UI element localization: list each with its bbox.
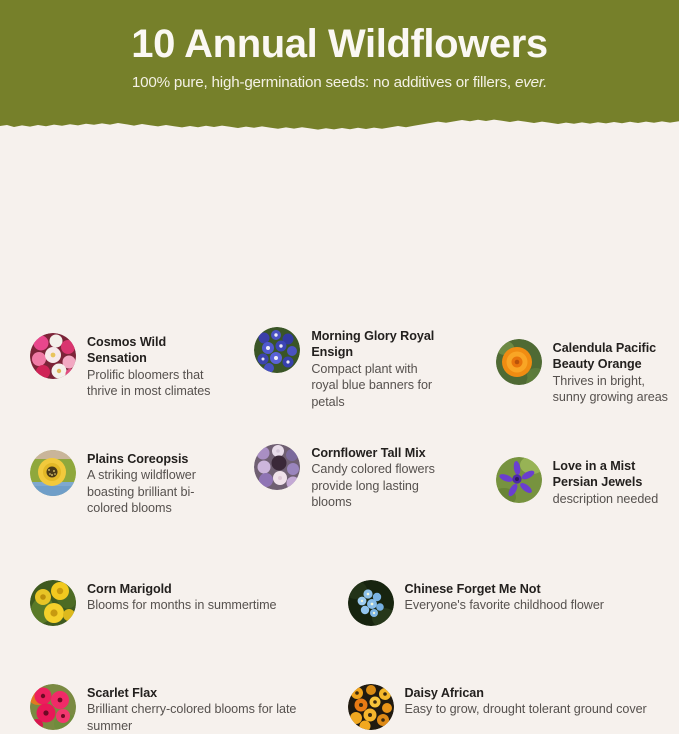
- flower-description: Brilliant cherry-colored blooms for late…: [87, 701, 334, 734]
- list-item[interactable]: Cornflower Tall Mix Candy colored flower…: [226, 444, 452, 517]
- subtitle-emphasis-text: ever.: [515, 74, 547, 91]
- flower-name: Corn Marigold: [87, 581, 277, 597]
- item-text-block: Cornflower Tall Mix Candy colored flower…: [311, 444, 446, 511]
- item-text-block: Cosmos Wild Sensation Prolific bloomers …: [87, 333, 220, 400]
- list-item[interactable]: Cosmos Wild Sensation Prolific bloomers …: [0, 333, 226, 410]
- item-text-block: Scarlet Flax Brilliant cherry-colored bl…: [87, 684, 334, 734]
- item-text-block: Calendula Pacific Beauty Orange Thrives …: [553, 339, 673, 406]
- cosmos-wild-sensation-thumbnail: [30, 333, 76, 379]
- flower-name: Scarlet Flax: [87, 685, 334, 701]
- subtitle-lead-text: 100% pure, high-germination seeds: no ad…: [132, 74, 511, 91]
- page-subtitle: 100% pure, high-germination seeds: no ad…: [0, 74, 679, 91]
- item-text-block: Morning Glory Royal Ensign Compact plant…: [311, 327, 446, 410]
- flower-name: Cosmos Wild Sensation: [87, 334, 220, 367]
- list-item[interactable]: Chinese Forget Me Not Everyone's favorit…: [340, 580, 679, 626]
- flower-name: Chinese Forget Me Not: [405, 581, 604, 597]
- item-text-block: Love in a Mist Persian Jewels descriptio…: [553, 457, 673, 507]
- list-item[interactable]: Scarlet Flax Brilliant cherry-colored bl…: [0, 684, 340, 734]
- flower-name: Daisy African: [405, 685, 647, 701]
- flower-description: Candy colored flowers provide long lasti…: [311, 461, 446, 510]
- calendula-pacific-beauty-orange-thumbnail: [496, 339, 542, 385]
- flower-description: Blooms for months in summertime: [87, 597, 277, 613]
- plains-coreopsis-thumbnail: [30, 450, 76, 496]
- flower-row: Plains Coreopsis A striking wildflower b…: [0, 450, 679, 517]
- flower-name: Plains Coreopsis: [87, 451, 220, 467]
- flower-description: Everyone's favorite childhood flower: [405, 597, 604, 613]
- list-item[interactable]: Calendula Pacific Beauty Orange Thrives …: [453, 339, 679, 410]
- flower-name: Morning Glory Royal Ensign: [311, 328, 446, 361]
- flower-name: Cornflower Tall Mix: [311, 445, 446, 461]
- item-text-block: Plains Coreopsis A striking wildflower b…: [87, 450, 220, 517]
- flower-row: Cosmos Wild Sensation Prolific bloomers …: [0, 333, 679, 410]
- list-item[interactable]: Daisy African Easy to grow, drought tole…: [340, 684, 679, 734]
- item-text-block: Chinese Forget Me Not Everyone's favorit…: [405, 580, 604, 614]
- item-text-block: Corn Marigold Blooms for months in summe…: [87, 580, 277, 614]
- item-text-block: Daisy African Easy to grow, drought tole…: [405, 684, 647, 718]
- flower-name: Calendula Pacific Beauty Orange: [553, 340, 673, 373]
- page-header: 10 Annual Wildflowers 100% pure, high-ge…: [0, 0, 679, 136]
- flower-name: Love in a Mist Persian Jewels: [553, 458, 673, 491]
- flower-row: Scarlet Flax Brilliant cherry-colored bl…: [0, 684, 679, 734]
- list-item[interactable]: Plains Coreopsis A striking wildflower b…: [0, 450, 226, 517]
- chinese-forget-me-not-thumbnail: [348, 580, 394, 626]
- love-in-a-mist-persian-jewels-thumbnail: [496, 457, 542, 503]
- header-text-block: 10 Annual Wildflowers 100% pure, high-ge…: [0, 0, 679, 91]
- list-item[interactable]: Love in a Mist Persian Jewels descriptio…: [453, 457, 679, 517]
- flower-description: Prolific bloomers that thrive in most cl…: [87, 367, 220, 400]
- flower-description: Thrives in bright, sunny growing areas: [553, 373, 673, 406]
- page-title: 10 Annual Wildflowers: [0, 22, 679, 67]
- list-item[interactable]: Corn Marigold Blooms for months in summe…: [0, 580, 340, 626]
- daisy-african-thumbnail: [348, 684, 394, 730]
- flower-row: Corn Marigold Blooms for months in summe…: [0, 580, 679, 626]
- cornflower-tall-mix-thumbnail: [254, 444, 300, 490]
- torn-paper-edge-divider: [0, 110, 679, 136]
- list-item[interactable]: Morning Glory Royal Ensign Compact plant…: [226, 327, 452, 410]
- scarlet-flax-thumbnail: [30, 684, 76, 730]
- corn-marigold-thumbnail: [30, 580, 76, 626]
- flower-description: Easy to grow, drought tolerant ground co…: [405, 701, 647, 717]
- flower-description: A striking wildflower boasting brilliant…: [87, 467, 220, 516]
- morning-glory-royal-ensign-thumbnail: [254, 327, 300, 373]
- flower-description: Compact plant with royal blue banners fo…: [311, 361, 446, 410]
- flower-description: description needed: [553, 491, 673, 507]
